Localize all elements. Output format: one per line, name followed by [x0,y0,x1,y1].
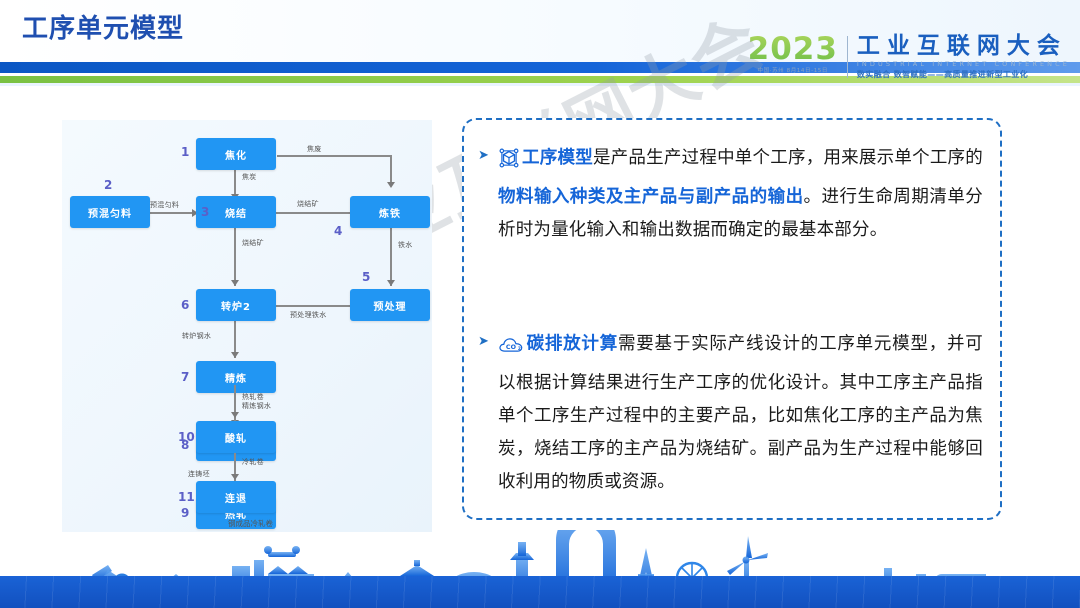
logo-year: 2023 [748,34,838,65]
paragraph-carbon-calc: ➤ CO 2 碳排放计算需要基于实际产线设计的工序单元模型，并可以根据计算结果进… [478,328,983,499]
logo-year-block: 2023 中国·苏州 8月14日-15日 [748,34,847,75]
edge-label-hotroll-coil: 热轧卷 [242,392,264,402]
process-flow-lower [62,120,432,532]
keyword-carbon-emission: 碳排放计算 [526,334,618,354]
logo-conference-en: INDUSTRIAL INTERNET CONFERENCE [857,59,1070,69]
header-divider-bottom [0,83,1080,86]
edge-label-coldroll-coil: 冷轧卷 [242,457,264,467]
logo-slogan: 数实融合 数智赋能——高质量推进新型工业化 [857,69,1070,80]
city-skyline-decoration [0,530,1080,608]
page-title: 工序单元模型 [22,14,184,44]
bullet-arrow-icon-2: ➤ [478,335,489,348]
logo-text-block: 工业互联网大会 INDUSTRIAL INTERNET CONFERENCE 数… [857,34,1070,80]
paragraph-1-text: 工序模型是产品生产过程中单个工序，用来展示单个工序的物料输入种类及主产品与副产品… [498,142,983,247]
keyword-material-io: 物料输入种类及主产品与副产品的输出 [498,187,804,207]
edge-hotroll-to-pickling-b [234,385,236,409]
svg-text:2: 2 [518,346,521,352]
node-number-10: 10 [178,430,195,444]
slide-root: 工序单元模型 2023 中国·苏州 8月14日-15日 工业互联网大会 INDU… [0,0,1080,608]
arrow-pickling-to-annealing [231,474,239,480]
node-pickling-coldroll[interactable]: 酸轧 [196,421,276,453]
paragraph-process-model: ➤ 工序模型是产品生产 [478,142,983,247]
node-number-11: 11 [178,490,195,504]
conference-logo: 2023 中国·苏州 8月14日-15日 工业互联网大会 INDUSTRIAL … [748,34,1070,82]
node-annealing[interactable]: 连退 [196,481,276,513]
description-panel: ➤ 工序模型是产品生产 [462,118,1002,520]
diagram-caption: 钢成品冷轧卷 [228,518,273,529]
logo-date: 中国·苏州 8月14日-15日 [758,67,828,75]
paragraph-2-body: 需要基于实际产线设计的工序单元模型，并可以根据计算结果进行生产工序的优化设计。其… [498,334,983,492]
model-cube-icon [498,147,520,181]
paragraph-1-part1: 是产品生产过程中单个工序，用来展示单个工序的 [593,148,983,168]
paragraph-2-text: CO 2 碳排放计算需要基于实际产线设计的工序单元模型，并可以根据计算结果进行生… [498,328,983,499]
skyline-ground-lines [0,576,1080,608]
svg-text:CO: CO [506,344,517,351]
co2-cloud-icon: CO 2 [498,334,524,367]
keyword-process-model: 工序模型 [522,148,593,168]
logo-separator [847,36,848,78]
logo-conference-cn: 工业互联网大会 [857,34,1070,59]
bullet-arrow-icon: ➤ [478,149,489,162]
arrow-hotroll-to-pickling [231,412,239,418]
